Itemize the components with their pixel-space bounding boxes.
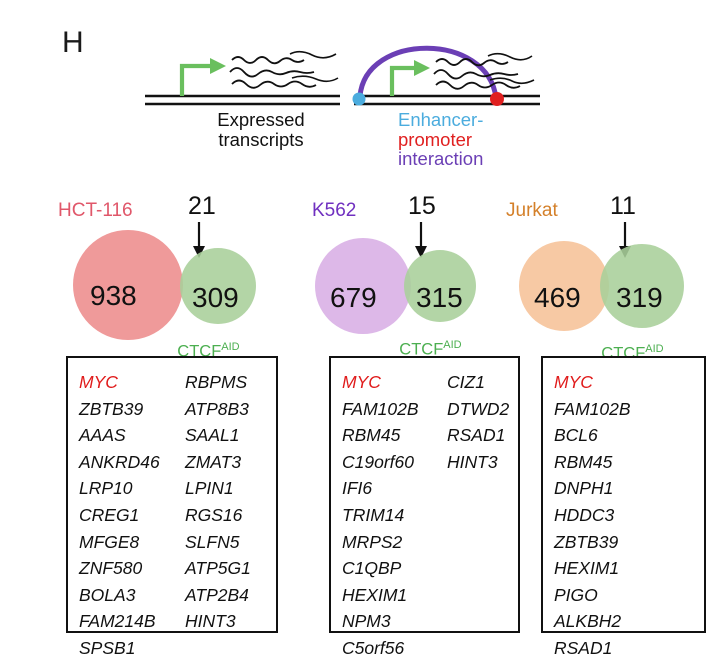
gene-item: MYC bbox=[554, 369, 694, 396]
schematic-diagram bbox=[140, 34, 570, 116]
venn-circles bbox=[494, 228, 714, 345]
gene-column-2: RBPMSATP8B3SAAL1ZMAT3LPIN1RGS16SLFN5ATP5… bbox=[185, 369, 251, 662]
gene-item: BOLA3 bbox=[79, 582, 185, 609]
gene-item: C19orf60 bbox=[342, 449, 447, 476]
gene-item: MFGE8 bbox=[79, 529, 185, 556]
caption-line-2: transcripts bbox=[218, 129, 303, 150]
venn-cell-line-label: K562 bbox=[312, 200, 356, 222]
venn-overlap-count: 21 bbox=[188, 192, 216, 221]
gene-item: HINT3 bbox=[447, 449, 509, 476]
gene-item: ATP8B3 bbox=[185, 396, 251, 423]
gene-item: TRIM14 bbox=[342, 502, 447, 529]
venn-left-count: 469 bbox=[534, 282, 581, 314]
figure-panel-h: H bbox=[0, 0, 728, 659]
gene-item: DTWD2 bbox=[447, 396, 509, 423]
gene-item: MYC bbox=[342, 369, 447, 396]
gene-item: RGS16 bbox=[185, 502, 251, 529]
gene-item: RBM45 bbox=[342, 422, 447, 449]
gene-item: IFI6 bbox=[342, 475, 447, 502]
gene-item: ATP5G1 bbox=[185, 555, 251, 582]
venn-overlap-count: 11 bbox=[610, 192, 636, 221]
gene-column-1: MYCZBTB39AAASANKRD46LRP10CREG1MFGE8ZNF58… bbox=[79, 369, 185, 662]
gene-item: ANKRD46 bbox=[79, 449, 185, 476]
gene-item: SPSB1 bbox=[79, 635, 185, 662]
gene-item: ALKBH2 bbox=[554, 608, 694, 635]
gene-item: SAAL1 bbox=[185, 422, 251, 449]
venn-right-count: 319 bbox=[616, 282, 663, 314]
gene-item: NPM3 bbox=[342, 608, 447, 635]
venn-circles bbox=[50, 228, 280, 345]
gene-item: ZBTB39 bbox=[79, 396, 185, 423]
promoter-dot bbox=[490, 92, 504, 106]
gene-item: RBPMS bbox=[185, 369, 251, 396]
venn-left-count: 679 bbox=[330, 282, 377, 314]
gene-item: CIZ1 bbox=[447, 369, 509, 396]
gene-item: SLFN5 bbox=[185, 529, 251, 556]
gene-item: C5orf56 bbox=[342, 635, 447, 662]
venn-cell-line-label: HCT-116 bbox=[58, 200, 133, 222]
gene-item: BCL6 bbox=[554, 422, 694, 449]
ctcf-label-sup: AID bbox=[221, 341, 239, 353]
gene-column-1: MYCFAM102BBCL6RBM45DNPH1HDDC3ZBTB39HEXIM… bbox=[554, 369, 694, 662]
gene-list-box-jurkat: MYCFAM102BBCL6RBM45DNPH1HDDC3ZBTB39HEXIM… bbox=[541, 356, 706, 633]
caption-enhancer: Enhancer- bbox=[398, 109, 483, 130]
venn-overlap-count: 15 bbox=[408, 192, 436, 221]
panel-letter: H bbox=[62, 26, 84, 60]
gene-item: HINT3 bbox=[185, 608, 251, 635]
ctcf-label-sup: AID bbox=[645, 343, 663, 355]
gene-item: LRP10 bbox=[79, 475, 185, 502]
gene-item: HEXIM1 bbox=[554, 555, 694, 582]
gene-item: ZMAT3 bbox=[185, 449, 251, 476]
gene-item: CREG1 bbox=[79, 502, 185, 529]
gene-item: HEXIM1 bbox=[342, 582, 447, 609]
expressed-transcripts-caption: Expressed transcripts bbox=[176, 110, 346, 149]
gene-item: FAM214B bbox=[79, 608, 185, 635]
ctcf-label-sup: AID bbox=[443, 339, 461, 351]
venn-cell-line-label: Jurkat bbox=[506, 200, 558, 222]
gene-column-2: CIZ1DTWD2RSAD1HINT3 bbox=[447, 369, 509, 662]
gene-item: MRPS2 bbox=[342, 529, 447, 556]
gene-item: ATP2B4 bbox=[185, 582, 251, 609]
venn-diagram-jurkat: Jurkat 11 469 319 CTCFAID -IAA/+IAA bbox=[494, 190, 714, 345]
gene-item: ZNF580 bbox=[79, 555, 185, 582]
gene-item: MYC bbox=[79, 369, 185, 396]
caption-promoter: promoter bbox=[398, 129, 472, 150]
gene-item: FAM102B bbox=[554, 396, 694, 423]
gene-item: RSAD1 bbox=[554, 635, 694, 662]
venn-diagram-hct116: HCT-116 21 938 309 CTCFAID -IAA/+IAA bbox=[50, 190, 280, 345]
gene-item: DNPH1 bbox=[554, 475, 694, 502]
gene-item: RBM45 bbox=[554, 449, 694, 476]
venn-right-count: 309 bbox=[192, 282, 239, 314]
venn-diagram-k562: K562 15 679 315 CTCFAID -IAA/+IAA bbox=[288, 190, 503, 345]
venn-left-count: 938 bbox=[90, 280, 137, 312]
gene-column-1: MYCFAM102BRBM45C19orf60IFI6TRIM14MRPS2C1… bbox=[342, 369, 447, 662]
right-schematic bbox=[353, 48, 541, 106]
gene-item: ZBTB39 bbox=[554, 529, 694, 556]
venn-right-count: 315 bbox=[416, 282, 463, 314]
gene-item: FAM102B bbox=[342, 396, 447, 423]
gene-item: AAAS bbox=[79, 422, 185, 449]
gene-item: RSAD1 bbox=[447, 422, 509, 449]
enhancer-promoter-caption: Enhancer- promoter interaction bbox=[398, 110, 548, 169]
venn-circles bbox=[288, 228, 503, 345]
gene-item: PIGO bbox=[554, 582, 694, 609]
gene-list-box-k562: MYCFAM102BRBM45C19orf60IFI6TRIM14MRPS2C1… bbox=[329, 356, 520, 633]
caption-interaction: interaction bbox=[398, 148, 483, 169]
enhancer-dot bbox=[353, 93, 366, 106]
gene-item: LPIN1 bbox=[185, 475, 251, 502]
gene-list-box-hct116: MYCZBTB39AAASANKRD46LRP10CREG1MFGE8ZNF58… bbox=[66, 356, 278, 633]
left-schematic bbox=[145, 52, 340, 104]
caption-line-1: Expressed bbox=[217, 109, 304, 130]
gene-item: C1QBP bbox=[342, 555, 447, 582]
gene-item: HDDC3 bbox=[554, 502, 694, 529]
